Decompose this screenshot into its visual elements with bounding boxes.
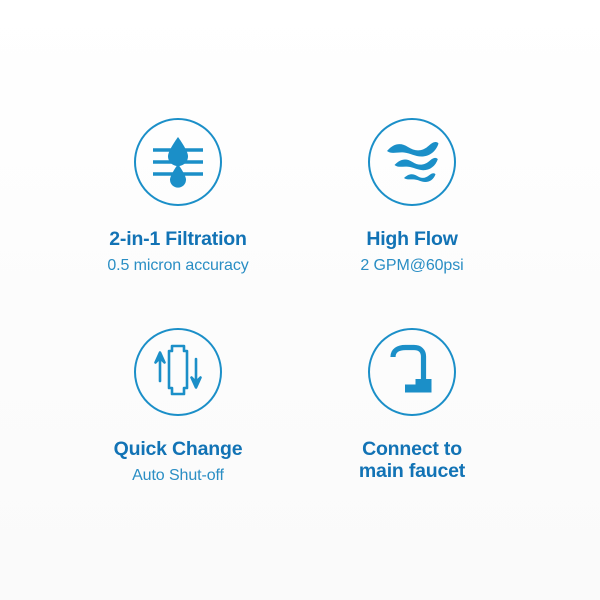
- feature-card-high-flow: High Flow 2 GPM@60psi: [292, 118, 532, 276]
- feature-card-filtration: 2-in-1 Filtration 0.5 micron accuracy: [58, 118, 298, 276]
- feature-subtitle: 2 GPM@60psi: [360, 256, 463, 275]
- feature-card-connect-faucet: Connect to main faucet: [292, 328, 532, 483]
- feature-subtitle: Auto Shut-off: [132, 466, 224, 485]
- feature-grid: 2-in-1 Filtration 0.5 micron accuracy Hi…: [0, 0, 600, 600]
- faucet-icon-badge: [368, 328, 456, 416]
- feature-card-quick-change: Quick Change Auto Shut-off: [58, 328, 298, 486]
- feature-subtitle: 0.5 micron accuracy: [107, 256, 248, 275]
- filter-cartridge-arrows-icon-badge: [134, 328, 222, 416]
- feature-title: High Flow: [366, 228, 457, 250]
- filter-cartridge-arrows-icon: [147, 341, 209, 403]
- feature-title: 2-in-1 Filtration: [109, 228, 246, 250]
- filtration-droplets-icon-badge: [134, 118, 222, 206]
- feature-title: Quick Change: [114, 438, 243, 460]
- faucet-icon: [383, 343, 441, 401]
- water-waves-icon: [382, 132, 442, 192]
- filtration-droplets-icon: [147, 131, 209, 193]
- feature-title: Connect to main faucet: [359, 438, 465, 483]
- water-waves-icon-badge: [368, 118, 456, 206]
